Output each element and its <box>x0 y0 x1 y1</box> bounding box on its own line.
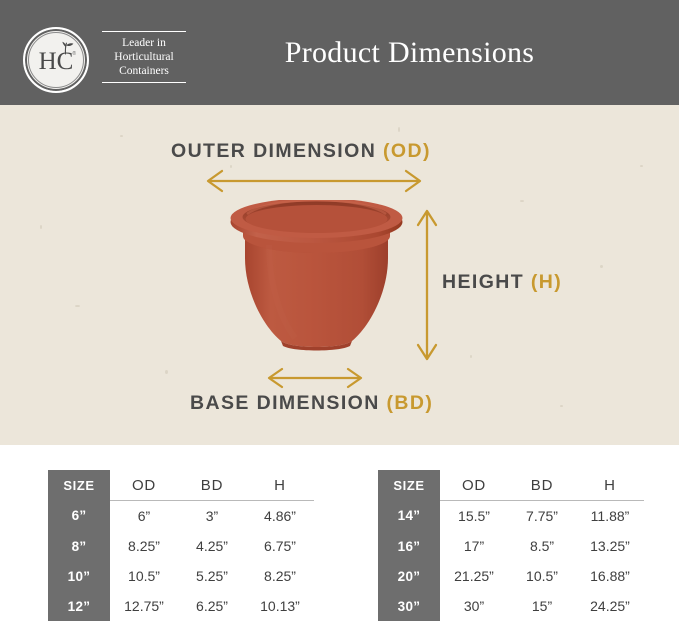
cell-od: 10.5” <box>110 561 178 591</box>
texture-speck <box>470 355 472 358</box>
table-header-row: SIZE OD BD H <box>378 470 644 501</box>
table-row: 30” 30” 15” 24.25” <box>378 591 644 621</box>
column-header-size: SIZE <box>378 470 440 501</box>
table-row: 14” 15.5” 7.75” 11.88” <box>378 501 644 532</box>
outer-dimension-arrow-icon <box>200 168 428 194</box>
cell-size: 16” <box>378 531 440 561</box>
tagline-line-3: Containers <box>102 64 186 78</box>
cell-bd: 6.25” <box>178 591 246 621</box>
height-label: HEIGHT (H) <box>442 271 562 294</box>
cell-size: 6” <box>48 501 110 532</box>
cell-od: 15.5” <box>440 501 508 532</box>
cell-od: 6” <box>110 501 178 532</box>
table-row: 8” 8.25” 4.25” 6.75” <box>48 531 314 561</box>
outer-dimension-label: OUTER DIMENSION (OD) <box>171 140 431 163</box>
cell-h: 4.86” <box>246 501 314 532</box>
table-row: 16” 17” 8.5” 13.25” <box>378 531 644 561</box>
cell-bd: 3” <box>178 501 246 532</box>
cell-h: 8.25” <box>246 561 314 591</box>
leaf-sprout-icon <box>56 41 76 55</box>
column-header-od: OD <box>110 470 178 501</box>
cell-size: 10” <box>48 561 110 591</box>
plant-pot-illustration <box>229 200 404 363</box>
cell-od: 30” <box>440 591 508 621</box>
column-header-od: OD <box>440 470 508 501</box>
cell-bd: 15” <box>508 591 576 621</box>
column-header-h: H <box>576 470 644 501</box>
cell-size: 12” <box>48 591 110 621</box>
table-row: 6” 6” 3” 4.86” <box>48 501 314 532</box>
column-header-h: H <box>246 470 314 501</box>
cell-h: 6.75” <box>246 531 314 561</box>
cell-bd: 10.5” <box>508 561 576 591</box>
cell-od: 17” <box>440 531 508 561</box>
base-dimension-arrow-icon <box>262 366 368 390</box>
cell-size: 14” <box>378 501 440 532</box>
cell-bd: 5.25” <box>178 561 246 591</box>
cell-h: 11.88” <box>576 501 644 532</box>
texture-speck <box>120 135 123 137</box>
table-row: 12” 12.75” 6.25” 10.13” <box>48 591 314 621</box>
cell-bd: 4.25” <box>178 531 246 561</box>
outer-dimension-text: OUTER DIMENSION <box>171 140 383 162</box>
tagline-rule-bottom <box>102 82 186 83</box>
base-dimension-label: BASE DIMENSION (BD) <box>190 392 433 415</box>
header-bar: HC ® Leader in Horticultural Containers … <box>0 0 679 105</box>
texture-speck <box>600 265 603 268</box>
cell-size: 20” <box>378 561 440 591</box>
tagline-line-1: Leader in <box>102 36 186 50</box>
product-dimensions-infographic: HC ® Leader in Horticultural Containers … <box>0 0 679 636</box>
cell-od: 21.25” <box>440 561 508 591</box>
cell-h: 24.25” <box>576 591 644 621</box>
column-header-bd: BD <box>178 470 246 501</box>
cell-h: 13.25” <box>576 531 644 561</box>
cell-bd: 8.5” <box>508 531 576 561</box>
texture-speck <box>640 165 643 167</box>
texture-speck <box>398 127 400 132</box>
tagline-line-2: Horticultural <box>102 50 186 64</box>
logo-circle-icon: HC ® <box>23 27 89 93</box>
texture-speck <box>40 225 42 229</box>
cell-h: 16.88” <box>576 561 644 591</box>
cell-od: 8.25” <box>110 531 178 561</box>
base-dimension-code: (BD) <box>387 392 434 414</box>
base-dimension-text: BASE DIMENSION <box>190 392 387 414</box>
texture-speck <box>75 305 80 307</box>
cell-size: 30” <box>378 591 440 621</box>
outer-dimension-code: (OD) <box>383 140 431 162</box>
column-header-size: SIZE <box>48 470 110 501</box>
texture-speck <box>165 370 168 374</box>
tagline-rule-top <box>102 31 186 32</box>
dimension-table-large-sizes: SIZE OD BD H 14” 15.5” 7.75” 11.88” 16” <box>378 470 644 621</box>
texture-speck <box>560 405 563 407</box>
cell-od: 12.75” <box>110 591 178 621</box>
column-header-bd: BD <box>508 470 576 501</box>
table-header-row: SIZE OD BD H <box>48 470 314 501</box>
brand-tagline: Leader in Horticultural Containers <box>102 31 186 83</box>
table-row: 10” 10.5” 5.25” 8.25” <box>48 561 314 591</box>
brand-logo: HC ® <box>20 24 92 96</box>
texture-speck <box>520 200 524 202</box>
dimension-table-small-sizes: SIZE OD BD H 6” 6” 3” 4.86” 8” <box>48 470 314 621</box>
table-row: 20” 21.25” 10.5” 16.88” <box>378 561 644 591</box>
cell-bd: 7.75” <box>508 501 576 532</box>
height-text: HEIGHT <box>442 271 531 293</box>
cell-size: 8” <box>48 531 110 561</box>
height-arrow-icon <box>414 205 440 365</box>
cell-h: 10.13” <box>246 591 314 621</box>
height-code: (H) <box>531 271 562 293</box>
